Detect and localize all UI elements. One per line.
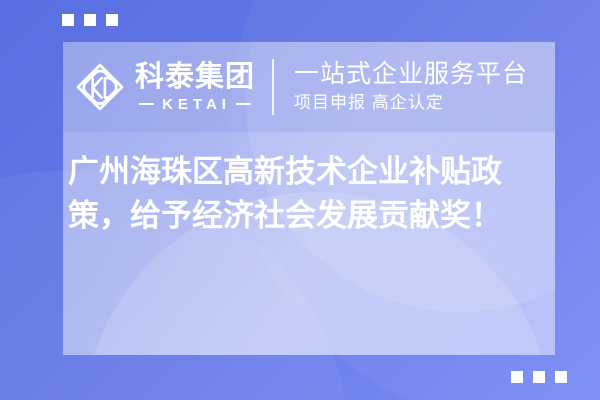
decor-square-icon bbox=[511, 371, 523, 383]
decor-square-icon bbox=[533, 371, 545, 383]
decor-dots-top bbox=[62, 14, 118, 26]
brand-lockup: 科泰集团 KETAI bbox=[74, 61, 255, 113]
brand-rule-left-icon bbox=[139, 103, 154, 106]
brand-wordmark: 科泰集团 KETAI bbox=[135, 63, 255, 112]
tagline-block: 一站式企业服务平台 项目申报 高企认定 bbox=[294, 60, 528, 114]
brand-name-en-row: KETAI bbox=[139, 97, 251, 112]
decor-square-icon bbox=[84, 14, 96, 26]
card-header: 科泰集团 KETAI 一站式企业服务平台 项目申报 高企认定 bbox=[63, 42, 555, 132]
brand-name-en: KETAI bbox=[159, 97, 231, 112]
decor-square-icon bbox=[106, 14, 118, 26]
tagline-secondary: 项目申报 高企认定 bbox=[294, 92, 528, 114]
kd-monogram-icon bbox=[74, 61, 126, 113]
banner-headline: 广州海珠区高新技术企业补贴政策，给予经济社会发展贡献奖！ bbox=[68, 150, 555, 238]
brand-name-cn: 科泰集团 bbox=[135, 63, 255, 92]
promo-banner: 科泰集团 KETAI 一站式企业服务平台 项目申报 高企认定 广州海珠区高新技术… bbox=[0, 0, 600, 400]
header-divider bbox=[272, 59, 274, 115]
tagline-primary: 一站式企业服务平台 bbox=[294, 60, 528, 88]
decor-square-icon bbox=[62, 14, 74, 26]
decor-dots-bottom bbox=[511, 371, 567, 383]
brand-rule-right-icon bbox=[236, 103, 251, 106]
decor-square-icon bbox=[555, 371, 567, 383]
banner-card: 科泰集团 KETAI 一站式企业服务平台 项目申报 高企认定 广州海珠区高新技术… bbox=[63, 42, 555, 355]
